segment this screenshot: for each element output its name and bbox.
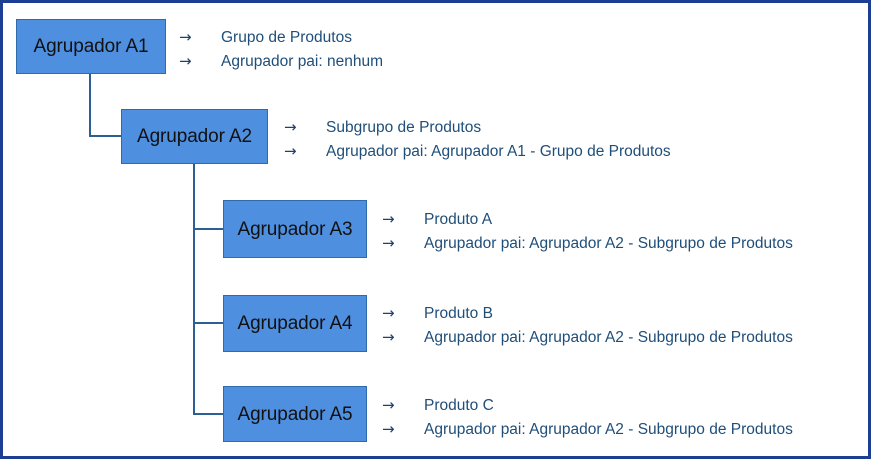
arrow-right-icon: → <box>284 115 326 139</box>
annotation-text: Agrupador pai: nenhum <box>221 50 383 74</box>
node-box-a5[interactable]: Agrupador A5 <box>223 386 367 442</box>
node-box-a1[interactable]: Agrupador A1 <box>16 19 166 74</box>
annotation-row: → Produto C <box>382 393 793 417</box>
arrow-right-icon: → <box>382 301 424 325</box>
arrow-right-icon: → <box>382 417 424 441</box>
connector-a2-a5-horizontal <box>193 413 224 415</box>
node-label-a5: Agrupador A5 <box>238 405 353 424</box>
arrow-right-icon: → <box>382 231 424 255</box>
node-box-a3[interactable]: Agrupador A3 <box>223 200 367 258</box>
node-box-a2[interactable]: Agrupador A2 <box>121 109 268 164</box>
connector-a1-a2-horizontal <box>89 135 122 137</box>
arrow-right-icon: → <box>179 25 221 49</box>
arrow-right-icon: → <box>179 49 221 73</box>
node-box-a4[interactable]: Agrupador A4 <box>223 295 367 352</box>
annotation-text: Agrupador pai: Agrupador A2 - Subgrupo d… <box>424 232 793 256</box>
annotation-row: → Agrupador pai: nenhum <box>179 49 383 73</box>
annotation-group-a4: → Produto B → Agrupador pai: Agrupador A… <box>382 301 793 349</box>
annotation-group-a3: → Produto A → Agrupador pai: Agrupador A… <box>382 207 793 255</box>
node-label-a3: Agrupador A3 <box>238 220 353 239</box>
annotation-group-a1: → Grupo de Produtos → Agrupador pai: nen… <box>179 25 383 73</box>
arrow-right-icon: → <box>382 325 424 349</box>
annotation-text: Grupo de Produtos <box>221 26 352 50</box>
arrow-right-icon: → <box>284 139 326 163</box>
annotation-row: → Grupo de Produtos <box>179 25 383 49</box>
annotation-text: Produto A <box>424 208 492 232</box>
connector-a1-a2-vertical <box>89 74 91 137</box>
connector-a2-trunk <box>193 164 195 415</box>
connector-a2-a3-horizontal <box>193 228 224 230</box>
node-label-a1: Agrupador A1 <box>34 37 149 56</box>
annotation-row: → Agrupador pai: Agrupador A1 - Grupo de… <box>284 139 671 163</box>
annotation-row: → Agrupador pai: Agrupador A2 - Subgrupo… <box>382 231 793 255</box>
annotation-row: → Subgrupo de Produtos <box>284 115 671 139</box>
arrow-right-icon: → <box>382 393 424 417</box>
annotation-text: Produto C <box>424 394 494 418</box>
annotation-text: Produto B <box>424 302 493 326</box>
annotation-text: Agrupador pai: Agrupador A2 - Subgrupo d… <box>424 418 793 442</box>
node-label-a2: Agrupador A2 <box>137 127 252 146</box>
connector-a2-a4-horizontal <box>193 322 224 324</box>
annotation-text: Subgrupo de Produtos <box>326 116 481 140</box>
arrow-right-icon: → <box>382 207 424 231</box>
annotation-row: → Agrupador pai: Agrupador A2 - Subgrupo… <box>382 417 793 441</box>
annotation-text: Agrupador pai: Agrupador A2 - Subgrupo d… <box>424 326 793 350</box>
annotation-row: → Produto B <box>382 301 793 325</box>
annotation-row: → Produto A <box>382 207 793 231</box>
annotation-row: → Agrupador pai: Agrupador A2 - Subgrupo… <box>382 325 793 349</box>
annotation-group-a2: → Subgrupo de Produtos → Agrupador pai: … <box>284 115 671 163</box>
annotation-text: Agrupador pai: Agrupador A1 - Grupo de P… <box>326 140 671 164</box>
annotation-group-a5: → Produto C → Agrupador pai: Agrupador A… <box>382 393 793 441</box>
node-label-a4: Agrupador A4 <box>238 314 353 333</box>
diagram-frame: Agrupador A1 Agrupador A2 Agrupador A3 A… <box>0 0 871 459</box>
